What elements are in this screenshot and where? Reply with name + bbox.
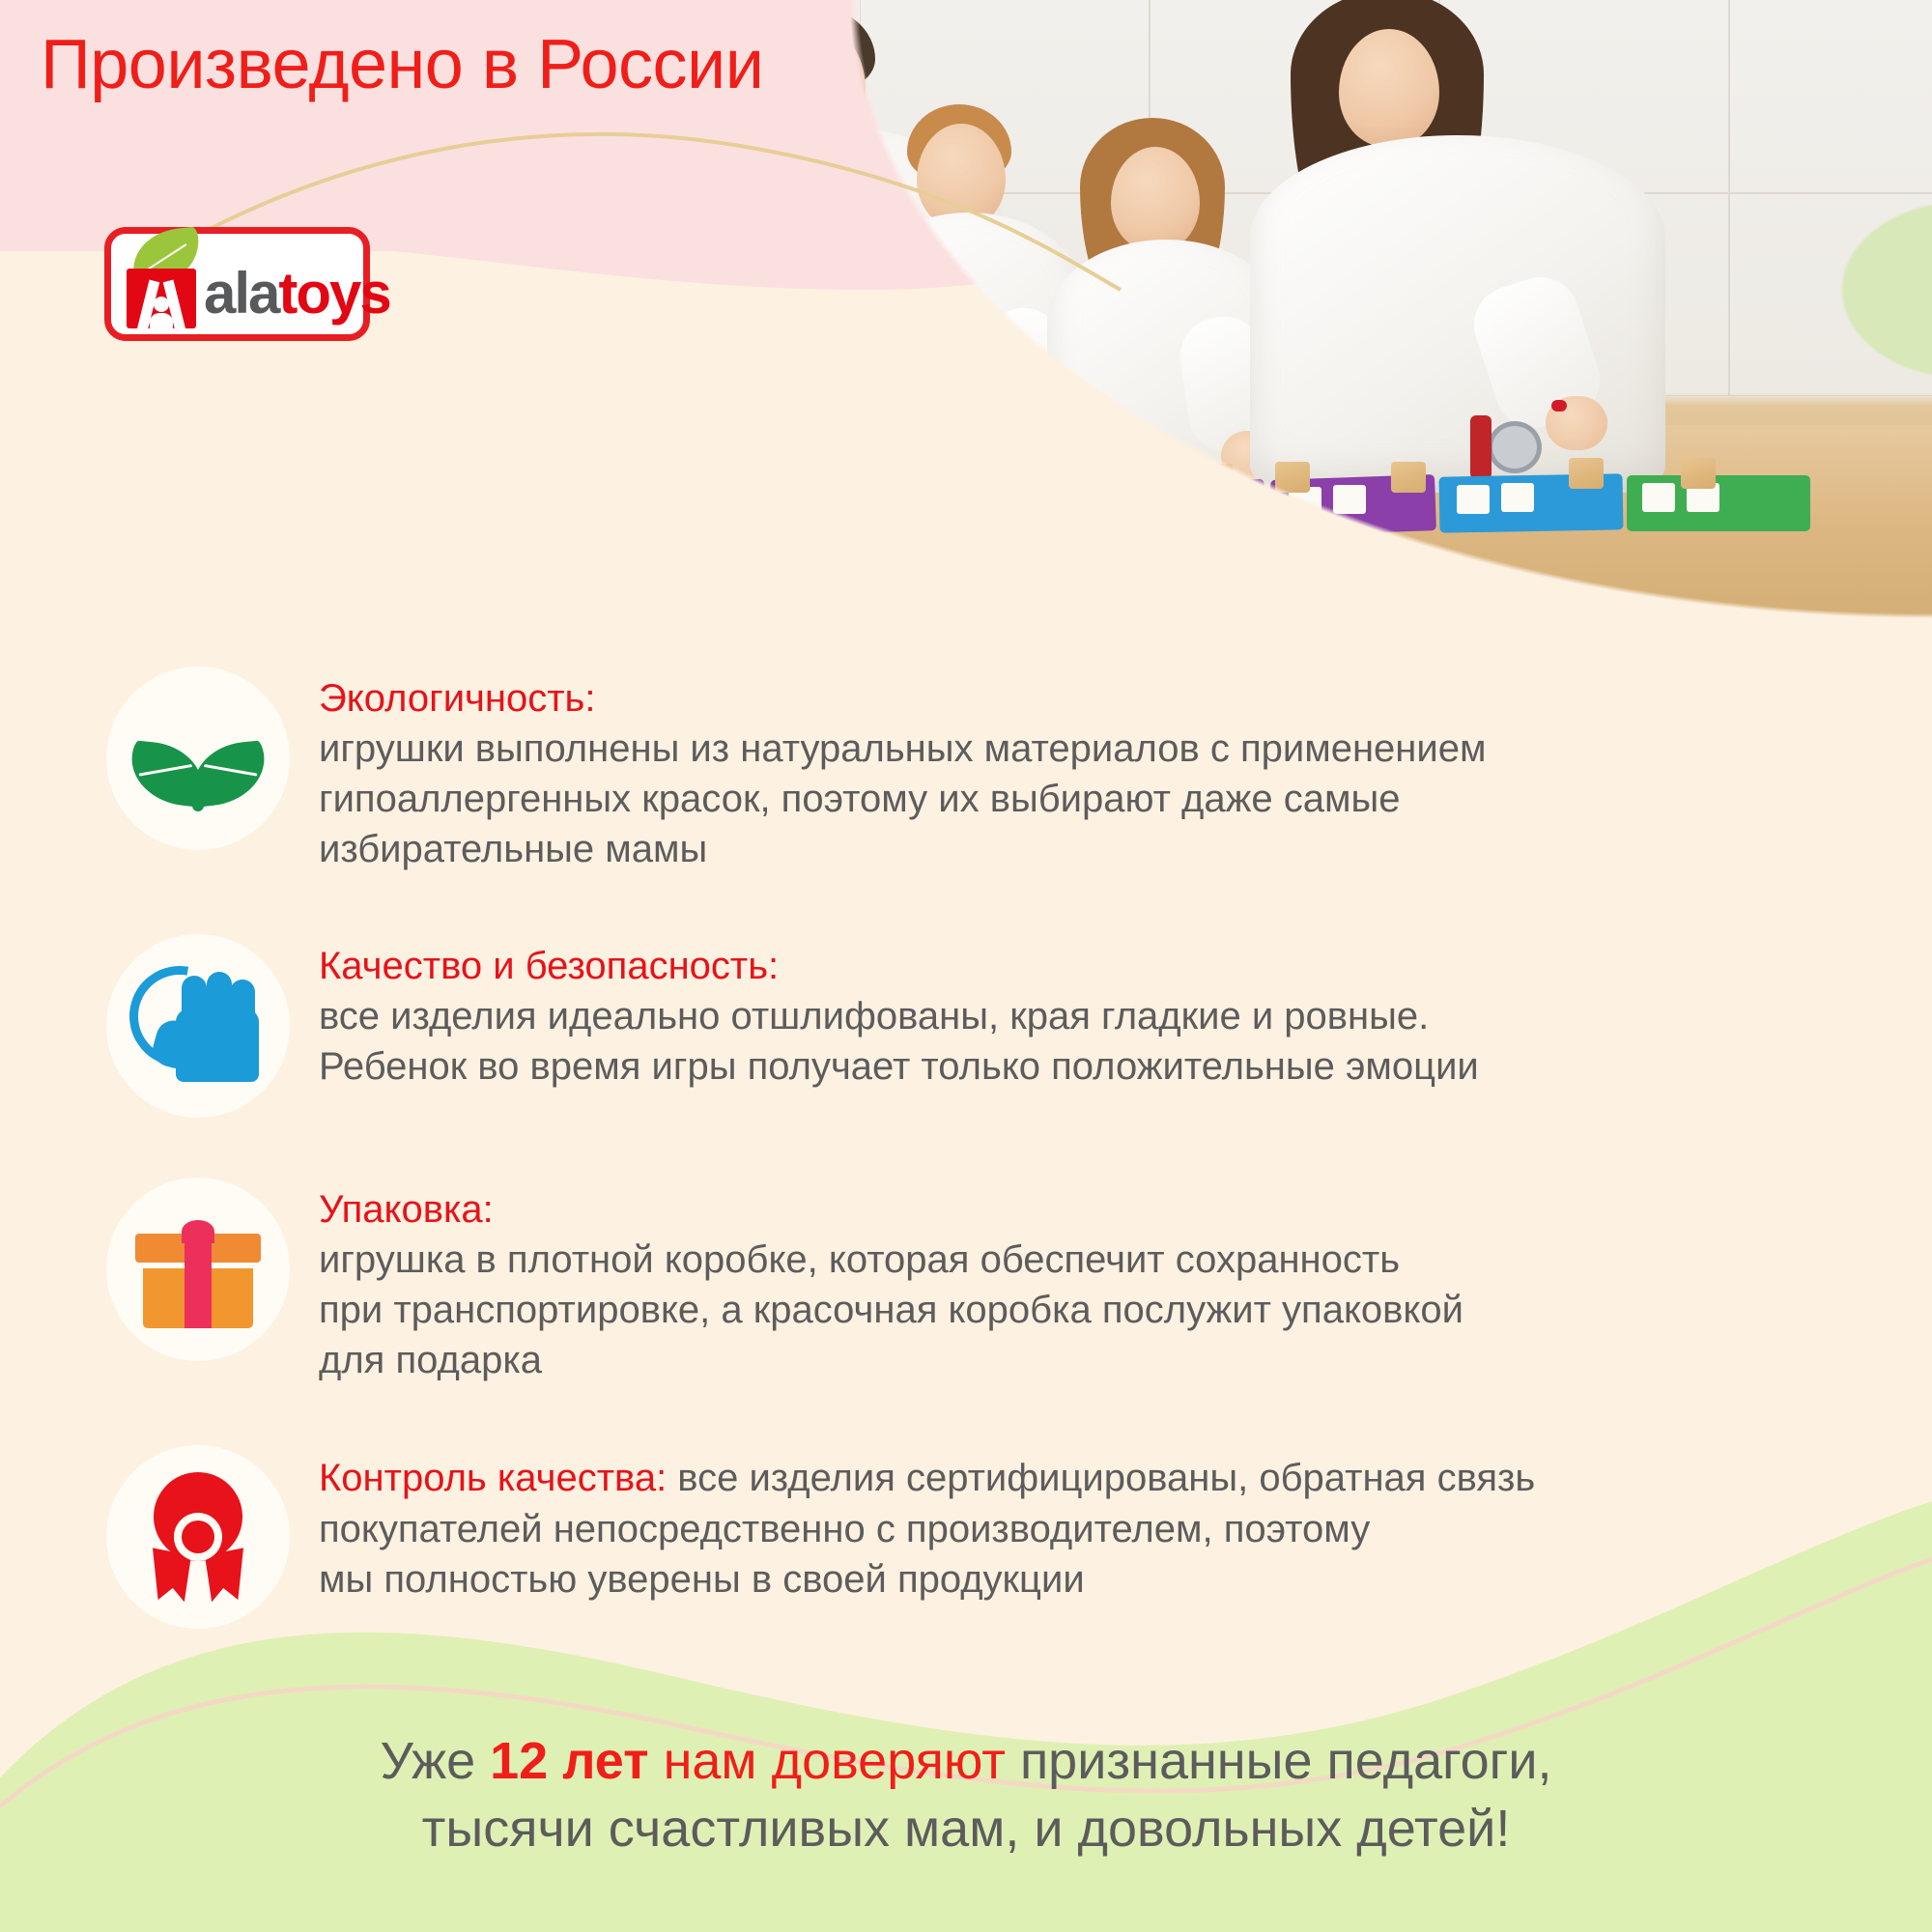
feature-title: Качество и безопасность:	[319, 942, 1479, 991]
feature-text-quality: Качество и безопасность: все изделия иде…	[319, 934, 1479, 1092]
footer-line1-a: Уже	[380, 1732, 490, 1790]
footer-years-highlight: 12 лет	[490, 1732, 648, 1790]
footer-line-2: тысячи счастливых мам, и довольных детей…	[0, 1795, 1932, 1862]
feature-item-qc: Контроль качества: все изделия сертифици…	[0, 1445, 1932, 1629]
feature-text-packaging: Упаковка: игрушка в плотной коробке, кот…	[319, 1178, 1463, 1385]
feature-item-quality: Качество и безопасность: все изделия иде…	[0, 934, 1932, 1118]
feature-title: Экологичность:	[319, 674, 1486, 724]
leaves-icon	[106, 667, 290, 850]
feature-text-qc: Контроль качества: все изделия сертифици…	[319, 1445, 1535, 1604]
brand-logo[interactable]: alatoys	[104, 227, 370, 341]
page-title: Произведено в России	[41, 25, 763, 104]
footer-line-1: Уже 12 лет нам доверяют признанные педаг…	[0, 1727, 1932, 1795]
feature-title: Упаковка:	[319, 1185, 1463, 1235]
gift-box-icon	[106, 1178, 290, 1361]
feature-item-eco: Экологичность: игрушки выполнены из нату…	[0, 667, 1932, 874]
logo-wordmark: alatoys	[204, 265, 390, 328]
feature-item-packaging: Упаковка: игрушка в плотной коробке, кот…	[0, 1178, 1932, 1385]
feature-body: игрушки выполнены из натуральных материа…	[319, 724, 1486, 874]
feature-title: Контроль качества:	[319, 1457, 667, 1499]
footer-line1-c: нам доверяют	[649, 1732, 1006, 1790]
logo-letter-a-tile	[127, 269, 196, 328]
feature-body: все изделия идеально отшлифованы, края г…	[319, 991, 1479, 1092]
logo-wordmark-part1: ala	[204, 261, 278, 326]
features-list: Экологичность: игрушки выполнены из нату…	[0, 667, 1932, 1629]
footer-line1-d: признанные педагоги,	[1006, 1732, 1552, 1790]
logo-mark	[119, 228, 200, 328]
feature-body: игрушка в плотной коробке, которая обесп…	[319, 1235, 1463, 1385]
logo-wordmark-part2: toys	[278, 261, 389, 326]
footer-tagline: Уже 12 лет нам доверяют признанные педаг…	[0, 1727, 1932, 1862]
feature-text-eco: Экологичность: игрушки выполнены из нату…	[319, 667, 1486, 874]
infographic-page: Произведено в России	[0, 0, 1932, 1932]
award-rosette-icon	[106, 1445, 290, 1629]
hand-quality-icon	[106, 934, 290, 1118]
